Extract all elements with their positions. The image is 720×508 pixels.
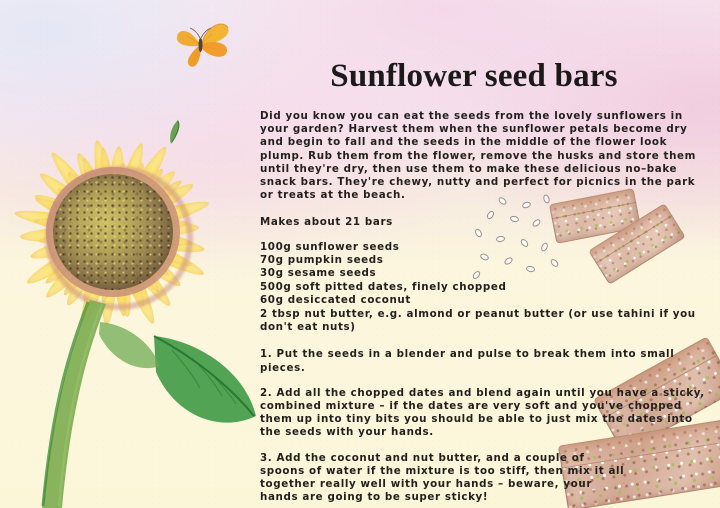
- sunflower-petal: [110, 226, 193, 271]
- method-step: 2. Add all the chopped dates and blend a…: [260, 387, 712, 440]
- sunflower-petal: [61, 228, 120, 310]
- sunflower-petal: [107, 230, 149, 309]
- sunflower-petal: [28, 224, 115, 264]
- ingredients-list: 100g sunflower seeds 70g pumpkin seeds 3…: [260, 241, 712, 335]
- sunflower-petal: [54, 184, 117, 237]
- method-step: 1. Put the seeds in a blender and pulse …: [260, 348, 712, 374]
- ingredient-item: 2 tbsp nut butter, e.g. almond or peanut…: [260, 308, 712, 335]
- sunflower-petal: [46, 226, 116, 264]
- ingredient-item: 30g sesame seeds: [260, 267, 712, 280]
- sunflower-petal: [108, 226, 185, 292]
- ingredient-item: 100g sunflower seeds: [260, 241, 712, 254]
- sunflower-petal: [23, 225, 117, 290]
- recipe-text-column: Sunflower seed bars Did you know you can…: [260, 56, 712, 508]
- sunflower-disc: [53, 174, 173, 290]
- sunflower-petal: [38, 226, 114, 248]
- sunflower-illustration: [0, 82, 278, 382]
- sunflower-petal: [75, 230, 121, 330]
- sunflower-petals: [0, 82, 278, 382]
- sunflower-petal: [89, 139, 121, 233]
- sunflower-petal: [99, 231, 121, 325]
- sunflower-petal: [109, 176, 185, 238]
- sunflower-petal: [20, 224, 114, 245]
- sunflower-petal: [108, 228, 164, 296]
- ingredient-item: 500g soft pitted dates, finely chopped: [260, 281, 712, 294]
- sunflower-seed-speckles: [53, 174, 173, 290]
- sunflower-petal: [46, 148, 120, 237]
- sunflower-petal: [97, 231, 120, 302]
- sunflower-petal: [107, 227, 176, 310]
- sunflower-petal: [78, 229, 119, 303]
- sunflower-bud-icon: [163, 118, 185, 148]
- sunflower-petal: [105, 141, 149, 234]
- sunflower-petal: [105, 231, 135, 318]
- sunflower-petal: [111, 200, 181, 238]
- ingredient-item: 60g desiccated coconut: [260, 294, 712, 307]
- yield-text: Makes about 21 bars: [260, 216, 712, 229]
- sunflower-petal: [109, 227, 172, 280]
- sunflower-petal: [41, 227, 117, 289]
- sunflower-petal: [59, 228, 118, 299]
- page-title: Sunflower seed bars: [260, 56, 712, 96]
- butterfly-illustration: [168, 18, 234, 70]
- sunflower-petal: [110, 225, 208, 281]
- sunflower-petal: [35, 168, 118, 239]
- leaf-illustration: [148, 330, 268, 440]
- sunflower-petal: [32, 189, 117, 240]
- stem-illustration: [28, 300, 148, 508]
- sunflower-petal: [96, 147, 119, 233]
- sunflower-petal: [111, 224, 205, 257]
- sunflower-petal: [113, 220, 200, 240]
- sunflower-petal: [107, 162, 130, 233]
- sunflower-petal: [105, 146, 127, 233]
- ingredient-item: 70g pumpkin seeds: [260, 254, 712, 267]
- sunflower-disc-ring: [45, 166, 193, 310]
- sunflower-petal: [111, 195, 211, 239]
- sunflower-petal: [71, 150, 120, 235]
- sunflower-petal: [13, 205, 114, 240]
- sunflower-petal: [106, 229, 161, 327]
- sunflower-petal: [77, 155, 119, 234]
- sunflower-petal: [107, 231, 130, 317]
- sunflower-petal: [112, 216, 188, 238]
- method-step: 3. Add the coconut and nut butter, and a…: [260, 452, 632, 505]
- sunflower-petal: [41, 226, 119, 303]
- leaf-small-illustration: [96, 318, 166, 378]
- sunflower-petal: [63, 168, 119, 236]
- intro-paragraph: Did you know you can eat the seeds from …: [260, 110, 710, 202]
- sunflower-petal: [107, 160, 148, 234]
- sunflower-petal: [107, 166, 180, 238]
- sunflower-petal: [109, 178, 197, 239]
- sunflower-petal: [106, 143, 172, 236]
- method-steps: 1. Put the seeds in a blender and pulse …: [260, 348, 712, 508]
- sunflower-petal: [108, 165, 167, 236]
- sunflower-petal: [112, 226, 193, 250]
- sunflower-petal: [33, 214, 114, 238]
- sunflower-petal: [32, 193, 115, 238]
- recipe-page: Sunflower seed bars Did you know you can…: [0, 0, 720, 508]
